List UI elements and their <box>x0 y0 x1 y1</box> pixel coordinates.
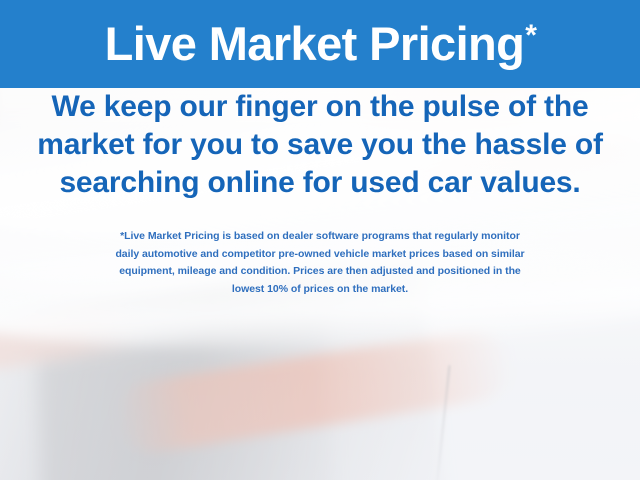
disclaimer-line-1: *Live Market Pricing is based on dealer … <box>22 228 618 246</box>
headline-line-1: We keep our finger on the pulse of the <box>18 88 622 126</box>
disclaimer-line-3: equipment, mileage and condition. Prices… <box>22 263 618 281</box>
disclaimer-line-4: lowest 10% of prices on the market. <box>22 281 618 299</box>
page-title-asterisk: * <box>525 19 536 52</box>
headline-line-3: searching online for used car values. <box>18 164 622 202</box>
page-title-text: Live Market Pricing <box>105 17 525 70</box>
headline-line-2: market for you to save you the hassle of <box>18 126 622 164</box>
headline-block: We keep our finger on the pulse of the m… <box>0 88 640 202</box>
disclaimer-block: *Live Market Pricing is based on dealer … <box>0 228 640 298</box>
live-market-pricing-promo-card: Live Market Pricing* We keep our finger … <box>0 0 640 480</box>
disclaimer-line-2: daily automotive and competitor pre-owne… <box>22 246 618 264</box>
header-banner: Live Market Pricing* <box>0 0 640 88</box>
page-title: Live Market Pricing* <box>105 20 536 67</box>
